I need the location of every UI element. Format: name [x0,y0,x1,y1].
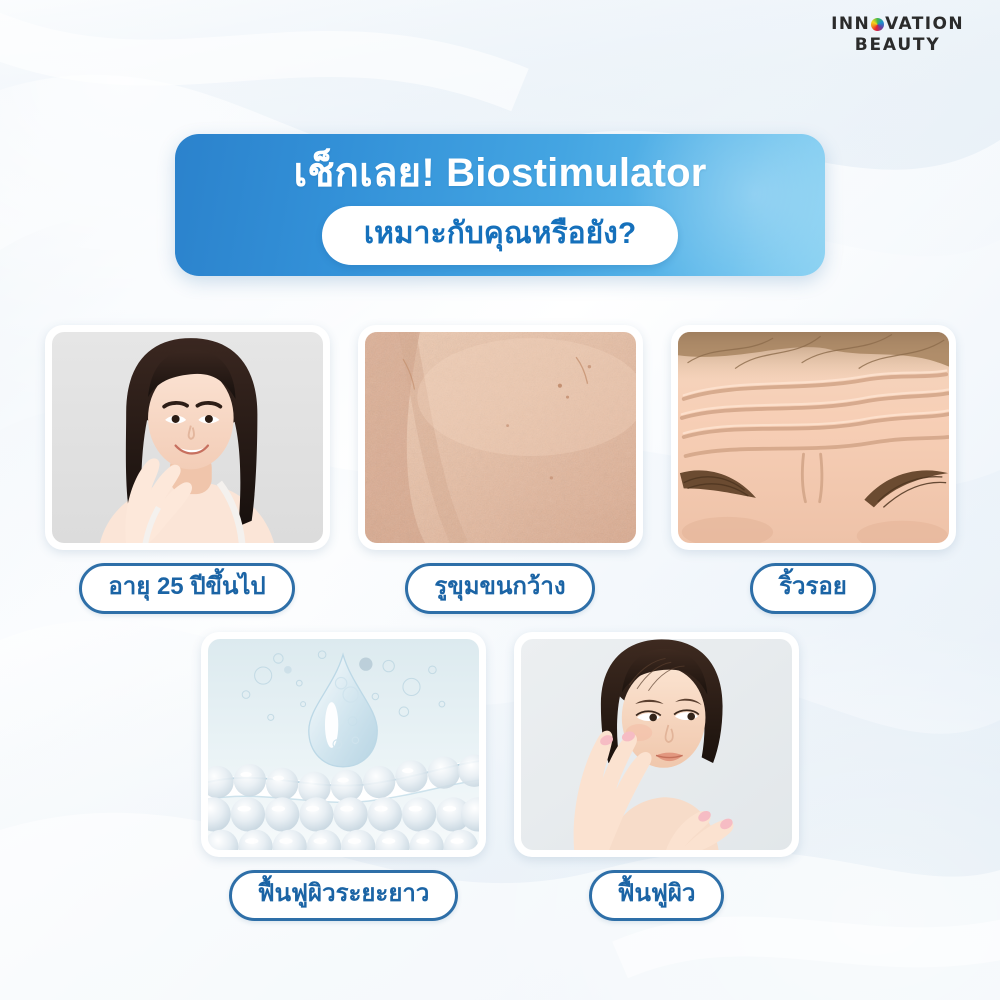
criteria-row-2: ฟื้นฟูผิวระยะยาว [0,632,1000,921]
card-thumbnail-frame [201,632,486,857]
smiling-young-woman-touching-cheek-photo [52,332,323,543]
criteria-card-age[interactable]: อายุ 25 ปีขึ้นไป [45,325,330,614]
close-up-enlarged-pores-skin-photo [365,332,636,543]
criteria-label-restoration: ฟื้นฟูผิว [589,870,725,921]
rainbow-o-icon [871,18,884,31]
criteria-card-pores[interactable]: รูขุมขนกว้าง [358,325,643,614]
criteria-card-wrinkles[interactable]: ริ้วรอย [671,325,956,614]
criteria-label-wrinkles: ริ้วรอย [750,563,876,614]
criteria-label-long-term-restoration: ฟื้นฟูผิวระยะยาว [229,870,459,921]
woman-touching-face-with-both-hands-photo [521,639,792,850]
banner-title: เช็กเลย! Biostimulator [293,150,706,196]
criteria-row-1: อายุ 25 ปีขึ้นไป [0,325,1000,614]
card-thumbnail-frame [45,325,330,550]
criteria-grid: อายุ 25 ปีขึ้นไป [0,325,1000,921]
logo-line-beauty: BEAUTY [831,37,964,54]
header-banner: เช็กเลย! Biostimulator เหมาะกับคุณหรือยั… [175,134,825,276]
water-droplet-over-skin-cell-layers-illustration [208,639,479,850]
banner-subtitle-pill: เหมาะกับคุณหรือยัง? [322,206,678,265]
criteria-card-restoration[interactable]: ฟื้นฟูผิว [514,632,799,921]
card-thumbnail-frame [671,325,956,550]
criteria-label-age: อายุ 25 ปีขึ้นไป [79,563,294,614]
card-thumbnail-frame [358,325,643,550]
criteria-label-pores: รูขุมขนกว้าง [405,563,594,614]
brand-logo: INN VATION BEAUTY [831,16,964,54]
logo-line-innovation: INN VATION [831,16,964,33]
logo-text-inn: INN [831,16,870,33]
logo-text-vation: VATION [885,16,964,33]
forehead-wrinkles-close-up-photo [678,332,949,543]
card-thumbnail-frame [514,632,799,857]
criteria-card-long-term-restoration[interactable]: ฟื้นฟูผิวระยะยาว [201,632,486,921]
